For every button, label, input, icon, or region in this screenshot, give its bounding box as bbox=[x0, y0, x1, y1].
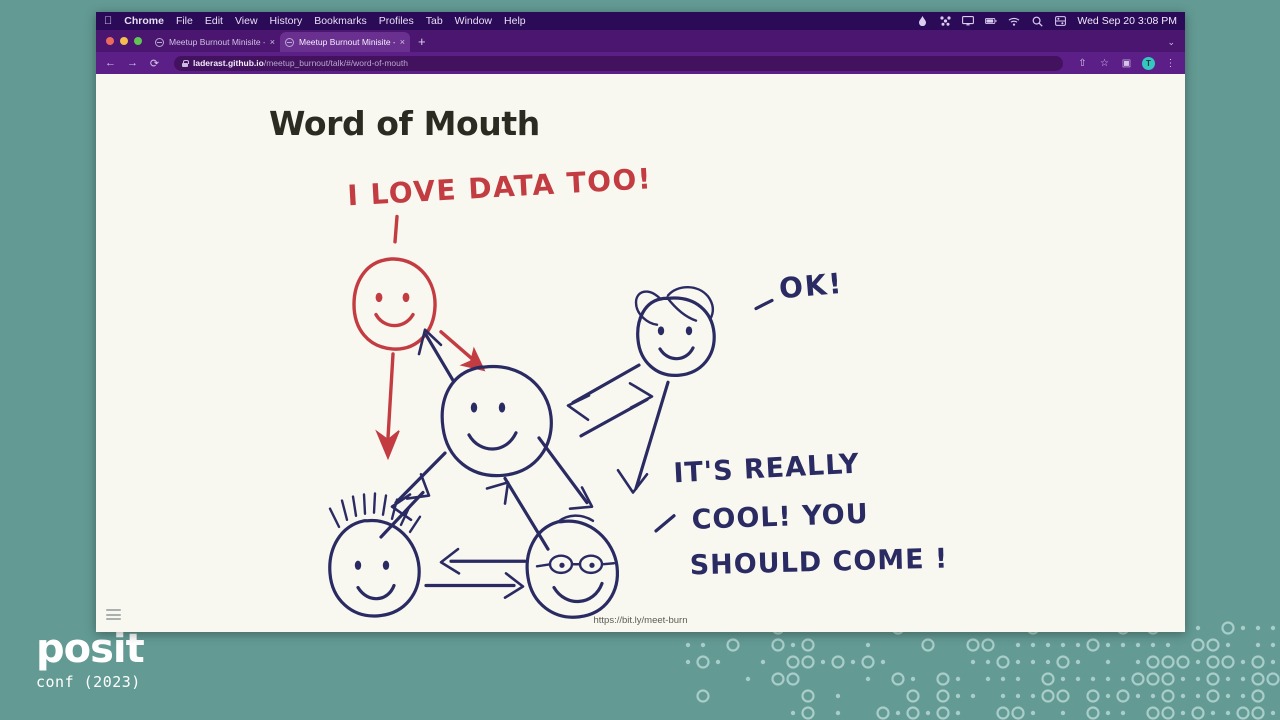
menu-item-bookmarks[interactable]: Bookmarks bbox=[314, 15, 367, 27]
posit-conf-subtitle: conf (2023) bbox=[36, 673, 144, 691]
annotation-cool-line-2: COOL! YOU bbox=[691, 499, 869, 536]
person-glasses-bottom-right bbox=[527, 516, 617, 618]
cool-speech-dash bbox=[656, 516, 674, 531]
word-of-mouth-sketch: .hw-red { fill:none; stroke:#c33c42; str… bbox=[96, 74, 1185, 632]
menu-item-window[interactable]: Window bbox=[455, 15, 492, 27]
slide-menu-icon[interactable] bbox=[106, 609, 121, 620]
menu-item-view[interactable]: View bbox=[235, 15, 258, 27]
bookmark-star-icon[interactable]: ☆ bbox=[1098, 58, 1111, 69]
menu-item-profiles[interactable]: Profiles bbox=[379, 15, 414, 27]
menu-item-history[interactable]: History bbox=[270, 15, 303, 27]
red-arrow-down-shaft bbox=[388, 354, 393, 438]
menu-item-chrome[interactable]: Chrome bbox=[124, 15, 164, 27]
url-domain: laderast.github.io bbox=[193, 58, 264, 68]
chrome-browser-window:  Chrome File Edit View History Bookmark… bbox=[96, 12, 1185, 632]
menu-bar-clock[interactable]: Wed Sep 20 3:08 PM bbox=[1077, 15, 1177, 27]
maximize-window-button[interactable] bbox=[134, 37, 142, 45]
wifi-icon[interactable] bbox=[1008, 15, 1020, 27]
annotation-cool-line-1: IT'S REALLY bbox=[673, 448, 861, 489]
tab-title: Meetup Burnout Minisite - Da bbox=[299, 37, 395, 47]
forward-button[interactable]: → bbox=[126, 57, 139, 69]
ok-speech-dash bbox=[756, 300, 772, 308]
red-speech-tail bbox=[395, 217, 397, 242]
arrow-topright-to-glasses bbox=[618, 382, 668, 492]
person-center bbox=[442, 367, 551, 476]
battery-icon[interactable] bbox=[985, 15, 997, 27]
slide-footer-link[interactable]: https://bit.ly/meet-burn bbox=[96, 615, 1185, 626]
window-controls bbox=[104, 30, 150, 52]
search-icon[interactable] bbox=[1031, 15, 1043, 27]
annotation-red-speech: I LOVE DATA TOO! bbox=[347, 162, 653, 212]
apple-logo-icon[interactable]:  bbox=[104, 15, 112, 27]
person-curly-top-right bbox=[636, 287, 714, 375]
posit-conf-logo: posit conf (2023) bbox=[36, 628, 144, 691]
person-spiky-bottom-left bbox=[330, 494, 420, 616]
display-icon[interactable] bbox=[962, 15, 974, 27]
menu-item-file[interactable]: File bbox=[176, 15, 193, 27]
browser-tab-1[interactable]: Meetup Burnout Minisite - Da × bbox=[150, 32, 280, 52]
arrow-center-to-bottomleft bbox=[392, 453, 445, 520]
profile-avatar[interactable]: T bbox=[1142, 57, 1155, 70]
slide-viewport[interactable]: Word of Mouth .hw-red { fill:none; strok… bbox=[96, 74, 1185, 632]
annotation-ok-speech: OK! bbox=[778, 267, 845, 306]
chrome-menu-icon[interactable]: ⋮ bbox=[1164, 58, 1177, 69]
decorative-dot-pattern bbox=[680, 620, 1280, 720]
url-text: laderast.github.io/meetup_burnout/talk/#… bbox=[193, 58, 408, 68]
tab-title: Meetup Burnout Minisite - Da bbox=[169, 37, 265, 47]
minimize-window-button[interactable] bbox=[120, 37, 128, 45]
water-drop-icon[interactable] bbox=[916, 15, 928, 27]
close-window-button[interactable] bbox=[106, 37, 114, 45]
browser-tab-2-active[interactable]: Meetup Burnout Minisite - Da × bbox=[280, 32, 410, 52]
arrow-glasses-to-spiky bbox=[441, 549, 525, 573]
macos-menu-bar:  Chrome File Edit View History Bookmark… bbox=[96, 12, 1185, 30]
posit-wordmark: posit bbox=[36, 628, 144, 670]
chevron-down-icon[interactable]: ⌄ bbox=[1167, 37, 1185, 52]
back-button[interactable]: ← bbox=[104, 57, 117, 69]
reload-button[interactable]: ⟳ bbox=[148, 57, 161, 70]
url-path: /meetup_burnout/talk/#/word-of-mouth bbox=[264, 58, 408, 68]
arrow-center-to-glasses bbox=[487, 478, 548, 549]
menu-item-help[interactable]: Help bbox=[504, 15, 526, 27]
bluetooth-icon[interactable] bbox=[939, 15, 951, 27]
tab-strip: Meetup Burnout Minisite - Da × Meetup Bu… bbox=[96, 30, 1185, 52]
menu-item-tab[interactable]: Tab bbox=[426, 15, 443, 27]
address-bar[interactable]: laderast.github.io/meetup_burnout/talk/#… bbox=[174, 56, 1063, 71]
lock-icon bbox=[182, 60, 188, 67]
side-panel-icon[interactable]: ▣ bbox=[1120, 58, 1133, 69]
arrow-spiky-to-glasses bbox=[426, 573, 523, 597]
arrow-glasses-to-center bbox=[539, 438, 592, 509]
tab-close-icon[interactable]: × bbox=[400, 37, 405, 47]
annotation-cool-line-3: SHOULD COME ! bbox=[689, 543, 948, 581]
tab-favicon-icon bbox=[155, 38, 164, 47]
tab-close-icon[interactable]: × bbox=[270, 37, 275, 47]
tab-favicon-icon bbox=[285, 38, 294, 47]
menu-item-edit[interactable]: Edit bbox=[205, 15, 223, 27]
new-tab-button[interactable]: + bbox=[410, 32, 434, 52]
browser-toolbar: ← → ⟳ laderast.github.io/meetup_burnout/… bbox=[96, 52, 1185, 74]
arrow-bottomleft-to-center bbox=[381, 474, 429, 537]
share-icon[interactable]: ⇧ bbox=[1076, 58, 1089, 69]
control-center-icon[interactable] bbox=[1054, 15, 1066, 27]
arrow-red-to-center bbox=[441, 332, 484, 370]
